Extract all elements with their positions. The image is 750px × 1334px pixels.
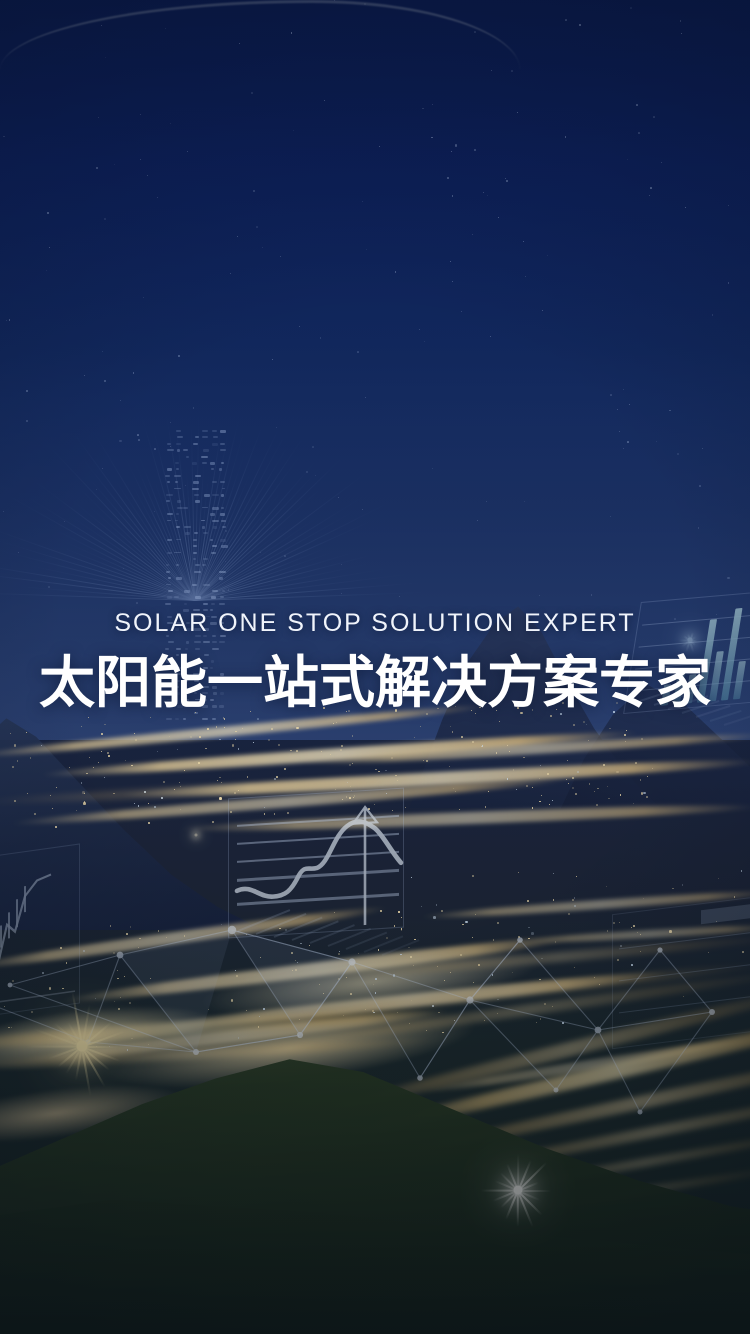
hero-text-block: SOLAR ONE STOP SOLUTION EXPERT 太阳能一站式解决方… (0, 606, 750, 716)
hud-left-chart-svg (0, 844, 81, 1021)
hero-banner: SOLAR ONE STOP SOLUTION EXPERT 太阳能一站式解决方… (0, 0, 750, 1334)
eyebrow-text: SOLAR ONE STOP SOLUTION EXPERT (0, 606, 750, 640)
foreground-green-hill-lower (0, 1160, 750, 1334)
hud-line-chart-svg (229, 789, 405, 940)
hud-panel-badge (701, 904, 750, 925)
starburst-flare-icon (188, 827, 204, 843)
hud-line-chart-panel (228, 788, 404, 939)
page-title: 太阳能一站式解决方案专家 (0, 650, 750, 716)
hud-lower-right-panel (612, 896, 750, 1049)
foreground-green-hill (0, 1040, 750, 1334)
winding-road (0, 0, 520, 70)
hud-left-chart-panel (0, 843, 80, 1020)
city-light-mass (0, 918, 669, 1192)
starburst-flare-icon (474, 1146, 562, 1234)
